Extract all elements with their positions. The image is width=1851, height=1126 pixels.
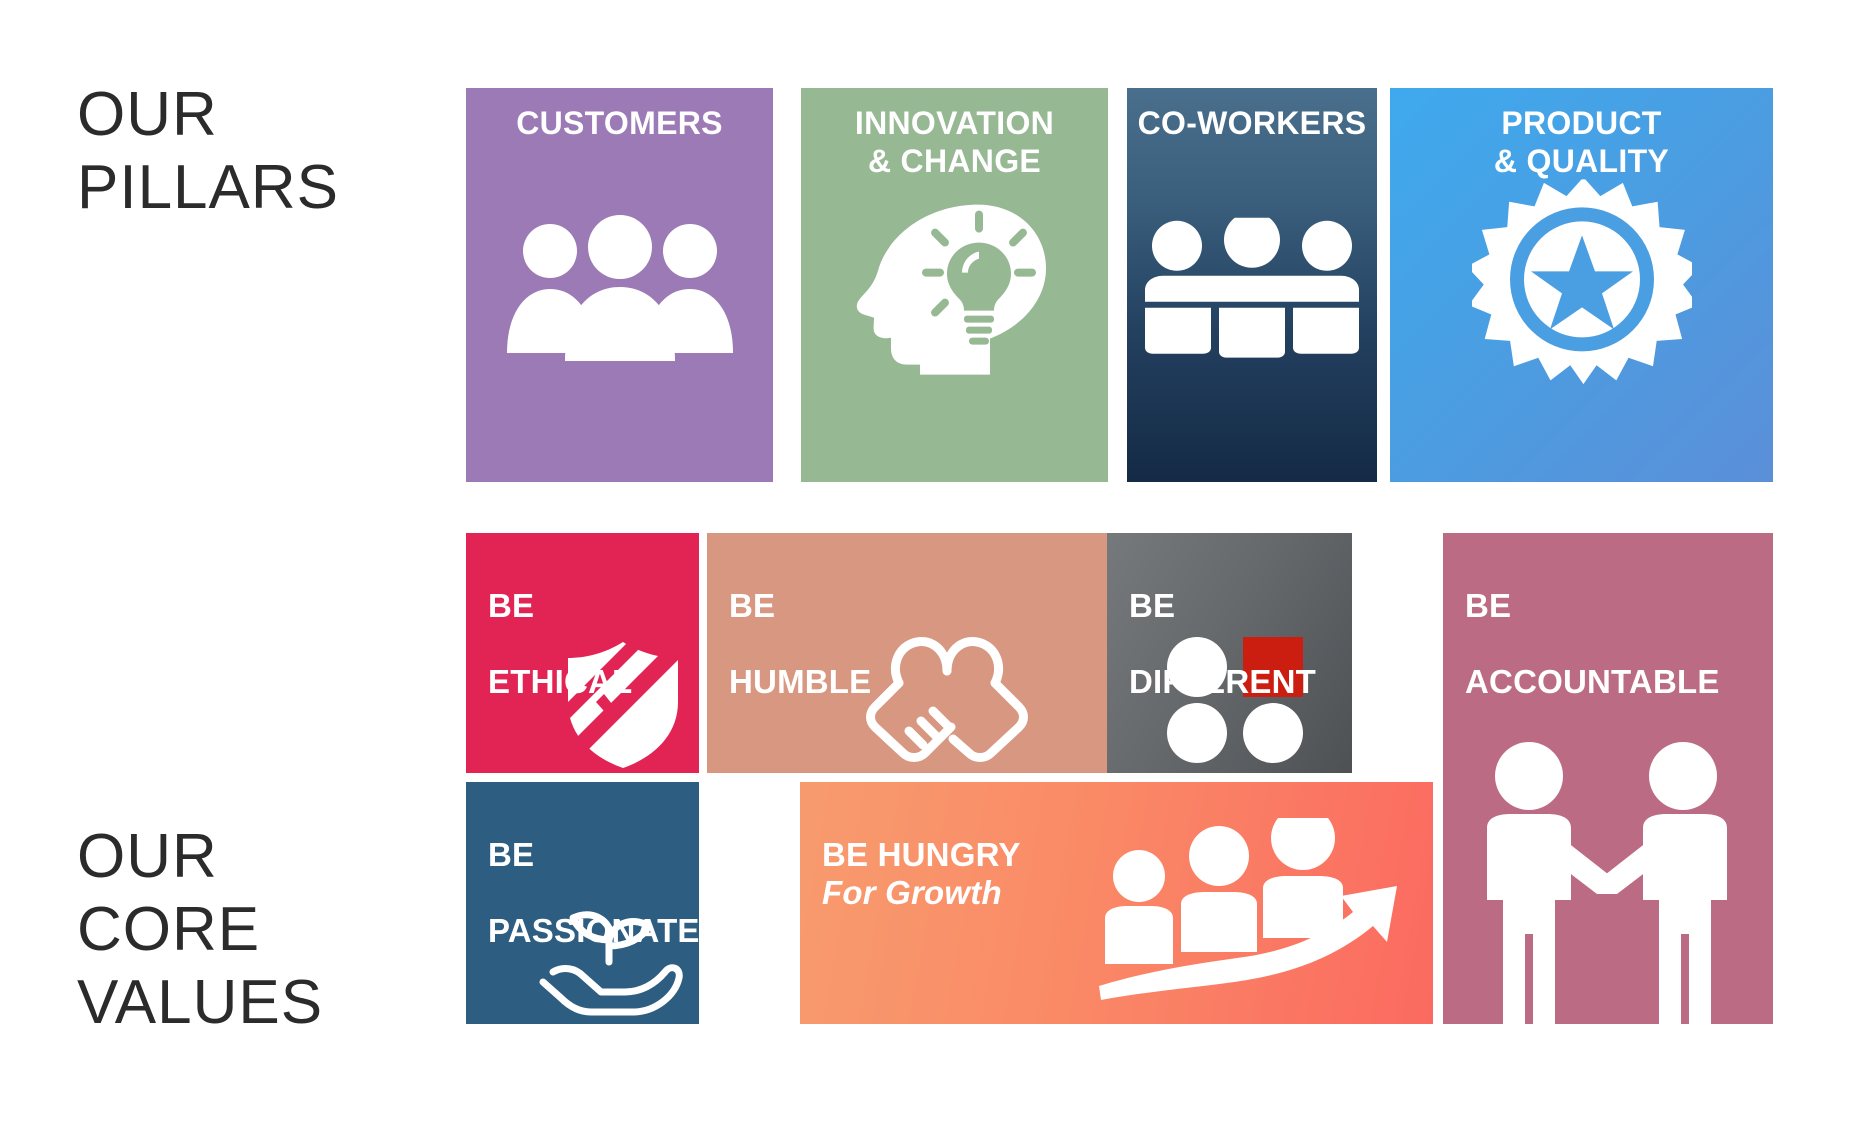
value-title-accountable: BE ACCOUNTABLE [1443,533,1773,701]
value-line2-different: DIFFERENT [1129,663,1316,700]
pillar-tile-customers[interactable]: CUSTOMERS [466,88,773,482]
value-line1-hungry: BE HUNGRY [822,836,1021,873]
head-lightbulb-icon [801,199,1108,379]
award-rosette-star-icon [1390,179,1773,399]
value-tile-accountable[interactable]: BE ACCOUNTABLE [1443,533,1773,1024]
pillar-title-coworkers: CO-WORKERS [1127,88,1377,143]
value-title-humble: BE HUMBLE [707,533,1107,701]
value-line1-accountable: BE [1465,587,1511,624]
pillar-title-product: PRODUCT & QUALITY [1390,88,1773,181]
value-title-hungry: BE HUNGRY For Growth [800,782,1433,950]
team-arms-linked-icon [1127,218,1377,358]
value-line2-passionate: PASSIONATE [488,912,699,949]
value-line2-ethical: ETHICAL [488,663,632,700]
page-title-our-core-values: OUR CORE VALUES [77,820,323,1039]
pillar-title-innovation: INNOVATION & CHANGE [801,88,1108,181]
people-group-icon [466,213,773,363]
value-title-different: BE DIFFERENT [1107,533,1352,701]
value-subtitle-hungry: For Growth [822,874,1433,912]
pillar-tile-innovation[interactable]: INNOVATION & CHANGE [801,88,1108,482]
value-line2-humble: HUMBLE [729,663,871,700]
pillar-title-customers: CUSTOMERS [466,88,773,143]
value-tile-hungry[interactable]: BE HUNGRY For Growth [800,782,1433,1024]
value-line1-ethical: BE [488,587,534,624]
value-line1-different: BE [1129,587,1175,624]
value-title-passionate: BE PASSIONATE [466,782,699,950]
value-tile-ethical[interactable]: BE ETHICAL [466,533,699,773]
two-people-handshake-icon [1467,734,1747,1024]
value-tile-humble[interactable]: BE HUMBLE [707,533,1107,773]
pillar-tile-coworkers[interactable]: CO-WORKERS [1127,88,1377,482]
value-tile-passionate[interactable]: BE PASSIONATE [466,782,699,1024]
value-tile-different[interactable]: BE DIFFERENT [1107,533,1352,773]
page-title-our-pillars: OUR PILLARS [77,78,339,224]
value-title-ethical: BE ETHICAL [466,533,699,701]
value-line1-passionate: BE [488,836,534,873]
value-line2-accountable: ACCOUNTABLE [1465,663,1720,700]
value-line1-humble: BE [729,587,775,624]
pillar-tile-product[interactable]: PRODUCT & QUALITY [1390,88,1773,482]
